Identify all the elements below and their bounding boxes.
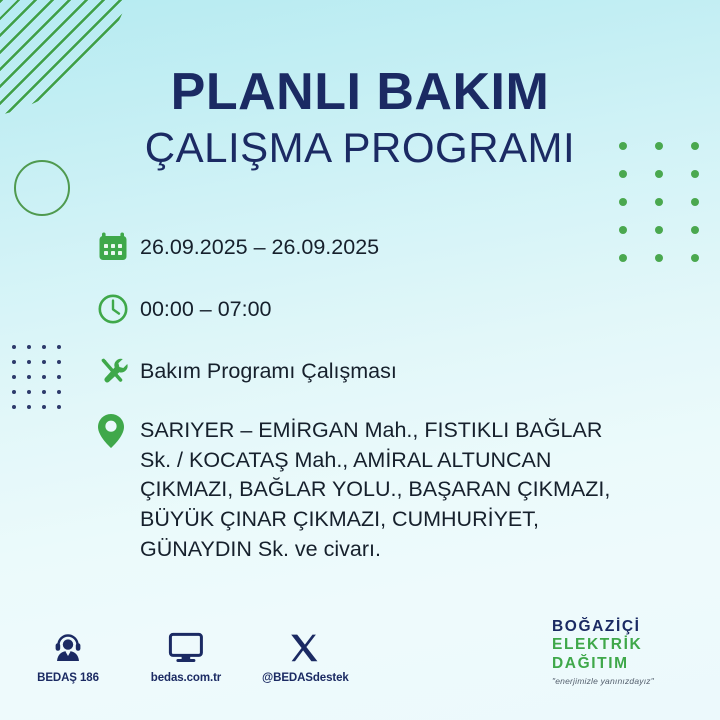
info-row-worktype: Bakım Programı Çalışması [96, 350, 676, 392]
location-text: SARIYER – EMİRGAN Mah., FISTIKLI BAĞLAR … [140, 412, 610, 564]
info-row-time-text: 00:00 – 07:00 [140, 288, 272, 324]
contact-phone-label: BEDAŞ 186 [26, 672, 110, 684]
poster-canvas: PLANLI BAKIM ÇALIŞMA PROGRAMI 26.09.2025… [0, 0, 720, 720]
page-title: PLANLI BAKIM [0, 66, 720, 118]
location-line: SARIYER – EMİRGAN Mah., FISTIKLI BAĞLAR [140, 416, 610, 446]
calendar-icon [96, 226, 140, 268]
contact-website[interactable]: bedas.com.tr [144, 624, 228, 684]
info-row-location: SARIYER – EMİRGAN Mah., FISTIKLI BAĞLAR … [96, 412, 676, 564]
outage-details: 26.09.2025 – 26.09.2025 00:00 – 07:00 [96, 226, 676, 584]
company-logo: BOĞAZİÇİ ELEKTRİK DAĞITIM "enerjimizle y… [552, 618, 702, 686]
page-subtitle: ÇALIŞMA PROGRAMI [0, 124, 720, 171]
contact-website-label: bedas.com.tr [144, 672, 228, 684]
contact-channels: BEDAŞ 186 bedas.com.tr [26, 624, 346, 684]
location-line: BÜYÜK ÇINAR ÇIKMAZI, CUMHURİYET, [140, 505, 610, 535]
brand-line-3: DAĞITIM [552, 655, 702, 673]
support-headset-icon [26, 624, 110, 664]
contact-social-x-label: @BEDASdestek [262, 672, 346, 684]
poster-header: PLANLI BAKIM ÇALIŞMA PROGRAMI [0, 66, 720, 171]
monitor-icon [144, 624, 228, 664]
tools-icon [96, 350, 140, 392]
info-row-worktype-text: Bakım Programı Çalışması [140, 350, 397, 386]
info-row-time: 00:00 – 07:00 [96, 288, 676, 330]
info-row-date: 26.09.2025 – 26.09.2025 [96, 226, 676, 268]
location-line: ÇIKMAZI, BAĞLAR YOLU., BAŞARAN ÇIKMAZI, [140, 475, 610, 505]
location-line: Sk. / KOCATAŞ Mah., AMİRAL ALTUNCAN [140, 446, 610, 476]
contact-social-x[interactable]: @BEDASdestek [262, 624, 346, 684]
dot-grid-left-decoration [12, 345, 72, 420]
brand-line-1: BOĞAZİÇİ [552, 618, 702, 636]
contact-phone[interactable]: BEDAŞ 186 [26, 624, 110, 684]
brand-line-2: ELEKTRİK [552, 636, 702, 654]
poster-footer: BEDAŞ 186 bedas.com.tr [0, 618, 720, 704]
location-line: GÜNAYDIN Sk. ve civarı. [140, 535, 610, 565]
brand-tagline: "enerjimizle yanınızdayız" [552, 676, 702, 686]
clock-icon [96, 288, 140, 330]
location-pin-icon [96, 412, 140, 452]
info-row-date-text: 26.09.2025 – 26.09.2025 [140, 226, 379, 262]
x-twitter-icon [262, 624, 346, 664]
